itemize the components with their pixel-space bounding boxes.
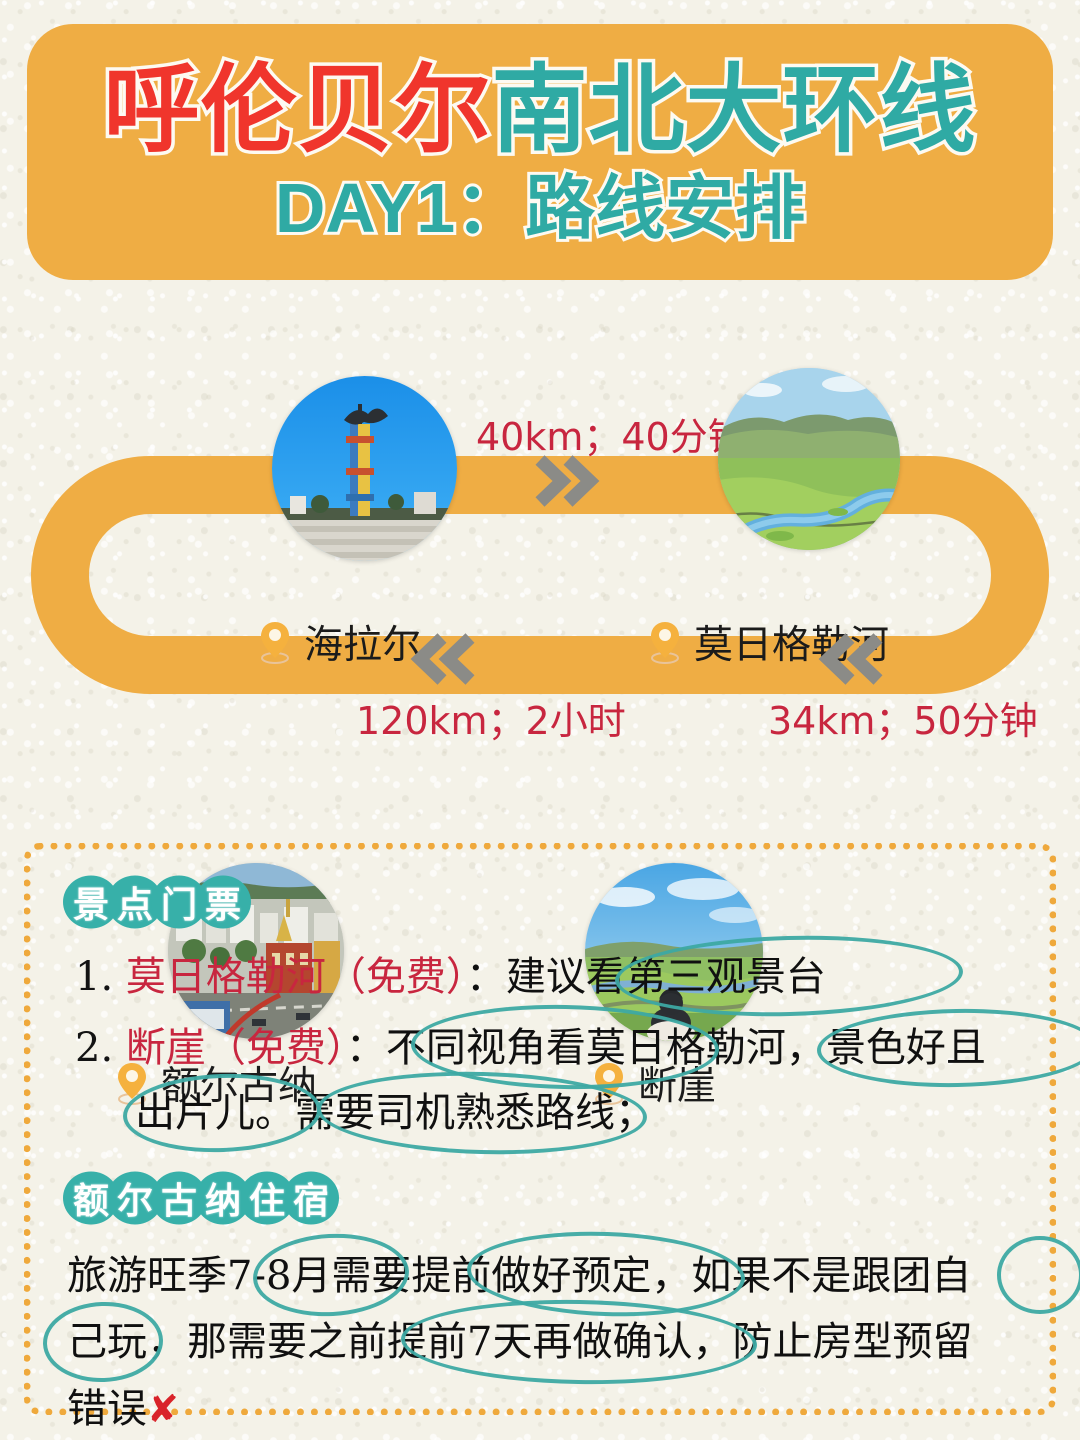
ticket-item-1: 1. 莫日格勒河（免费）：建议看第三观景台 bbox=[75, 950, 1023, 1005]
title-part-red: 呼伦贝尔 bbox=[104, 57, 492, 164]
heading-char: 宿 bbox=[287, 1172, 335, 1224]
heading-char: 尔 bbox=[111, 1172, 159, 1224]
section-heading-tickets: 景 点 门 票 bbox=[67, 876, 243, 928]
section-heading-lodging: 额 尔 古 纳 住 宿 bbox=[67, 1172, 331, 1224]
lodging-paragraph: 旅游旺季7-8月需要提前做好预定，如果不是跟团自 己玩，那需要之前提前7天再做确… bbox=[67, 1248, 1023, 1438]
info-card: 景 点 门 票 1. 莫日格勒河（免费）：建议看第三观景台 2. 断崖（免费）：… bbox=[24, 843, 1056, 1415]
map-pin-icon bbox=[648, 620, 682, 664]
double-chevron-left-icon bbox=[410, 630, 476, 693]
header-banner: 呼伦贝尔南北大环线 DAY1：路线安排 bbox=[27, 24, 1053, 280]
ticket-detail-line1: 不同视角看莫日格勒河，景色好且 bbox=[386, 1025, 986, 1071]
list-number: 2. bbox=[75, 1025, 113, 1071]
ticket-item-2-cont: 出片儿。需要司机熟悉路线； bbox=[135, 1086, 1023, 1141]
double-chevron-left-icon bbox=[818, 630, 884, 693]
title-part-teal: 南北大环线 bbox=[492, 57, 977, 164]
heading-char: 住 bbox=[243, 1172, 291, 1224]
lodging-text-line2: 己玩，那需要之前提前7天再做确认，防止房型预留 bbox=[67, 1319, 972, 1365]
leg-label-2: 34km；50分钟 bbox=[768, 690, 1038, 745]
red-x-icon: ✘ bbox=[147, 1387, 179, 1431]
page-title: 呼伦贝尔南北大环线 bbox=[104, 61, 977, 162]
heading-char: 额 bbox=[67, 1172, 115, 1224]
ticket-item-2: 2. 断崖（免费）：不同视角看莫日格勒河，景色好且 bbox=[75, 1021, 1023, 1076]
colon: ： bbox=[346, 1025, 386, 1071]
page-subtitle: DAY1：路线安排 bbox=[275, 170, 805, 247]
stop-photo-hailaer bbox=[272, 376, 457, 561]
stop-name: 海拉尔 bbox=[304, 614, 421, 670]
highlight-ellipse bbox=[997, 1236, 1080, 1314]
lodging-text-line3: 错误 bbox=[67, 1386, 147, 1432]
fee-note: （免费） bbox=[326, 954, 466, 1000]
heading-char: 票 bbox=[199, 876, 247, 928]
lodging-text-line1: 旅游旺季7-8月需要提前做好预定，如果不是跟团自 bbox=[67, 1253, 971, 1299]
double-chevron-right-icon bbox=[534, 452, 600, 515]
map-pin-icon bbox=[258, 620, 292, 664]
leg-label-1: 40km；40分钟 bbox=[476, 406, 746, 461]
heading-char: 门 bbox=[155, 876, 203, 928]
fee-note: （免费） bbox=[206, 1025, 346, 1071]
heading-char: 纳 bbox=[199, 1172, 247, 1224]
heading-char: 景 bbox=[67, 876, 115, 928]
lodging-line-1: 旅游旺季7-8月需要提前做好预定，如果不是跟团自 bbox=[67, 1248, 1023, 1305]
leg-label-3: 120km；2小时 bbox=[356, 690, 626, 745]
subtitle-text: DAY1：路线安排 bbox=[275, 169, 805, 247]
stop-photo-morigele bbox=[718, 368, 900, 550]
list-number: 1. bbox=[75, 954, 113, 1000]
colon: ： bbox=[466, 954, 506, 1000]
ticket-detail-line2: 出片儿。需要司机熟悉路线； bbox=[135, 1090, 655, 1136]
heading-char: 古 bbox=[155, 1172, 203, 1224]
ticket-detail: 建议看第三观景台 bbox=[506, 954, 826, 1000]
stop-label-hailaer: 海拉尔 bbox=[258, 614, 421, 670]
route-map: 海拉尔 bbox=[0, 300, 1080, 820]
lodging-line-3: 错误✘ bbox=[67, 1381, 1023, 1438]
place-name: 断崖 bbox=[126, 1025, 206, 1071]
place-name: 莫日格勒河 bbox=[126, 954, 326, 1000]
heading-char: 点 bbox=[111, 876, 159, 928]
lodging-line-2: 己玩，那需要之前提前7天再做确认，防止房型预留 bbox=[67, 1314, 1023, 1371]
